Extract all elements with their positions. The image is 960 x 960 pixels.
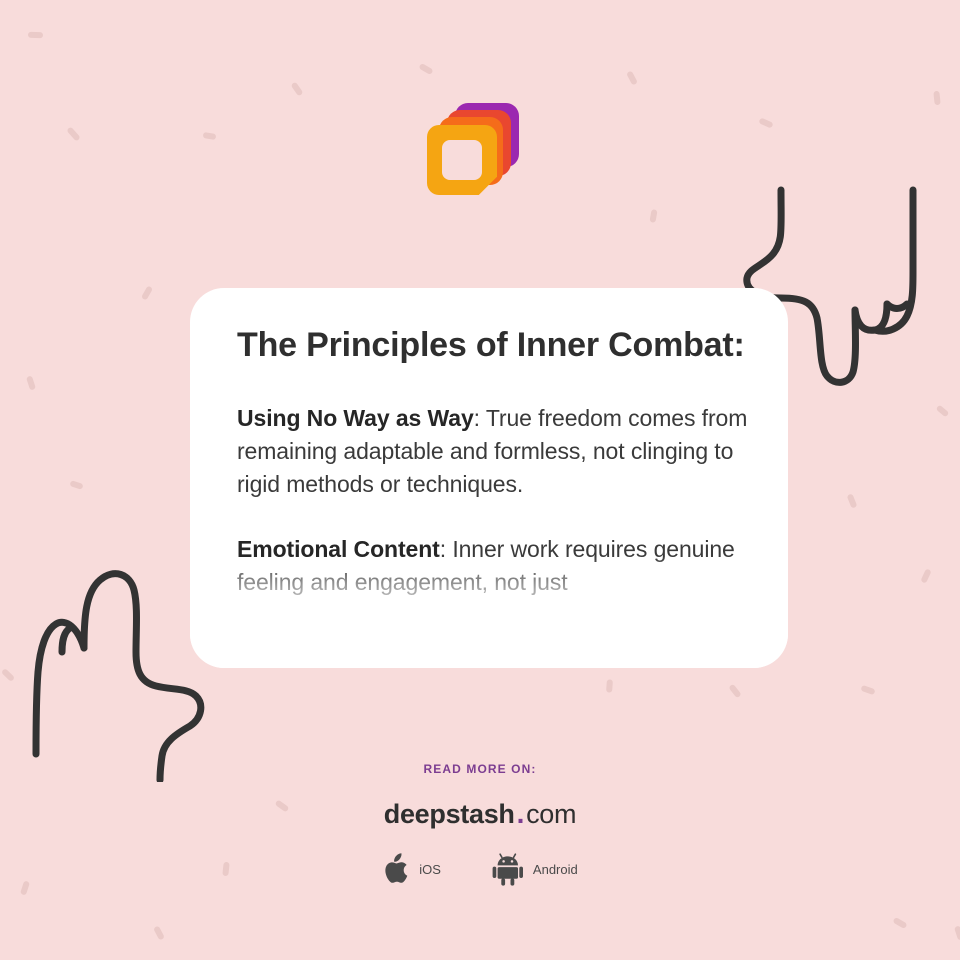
confetti-dash [153, 925, 165, 940]
confetti-dash [26, 375, 36, 390]
platform-label-ios: iOS [419, 862, 441, 877]
read-more-label: READ MORE ON: [0, 762, 960, 776]
confetti-dash [141, 285, 153, 300]
confetti-dash [418, 63, 433, 75]
confetti-dash [606, 679, 613, 692]
confetti-dash [758, 117, 773, 128]
footer: READ MORE ON: deepstash.com iOS [0, 762, 960, 886]
confetti-dash [649, 209, 657, 223]
confetti-dash [936, 405, 950, 418]
confetti-dash [892, 917, 907, 929]
confetti-dash [203, 132, 217, 140]
platform-badge-android[interactable]: Android [492, 853, 578, 886]
logo-layer-amber [427, 125, 497, 195]
confetti-dash [728, 684, 741, 699]
android-icon [492, 853, 524, 886]
confetti-dash [28, 32, 43, 39]
apple-icon [382, 853, 410, 886]
hand-pointing-up-icon [14, 552, 219, 782]
idea-card[interactable]: The Principles of Inner Combat: Using No… [190, 288, 788, 668]
platform-badge-ios[interactable]: iOS [382, 853, 441, 886]
confetti-dash [291, 82, 304, 97]
idea-paragraph-2-lead: Emotional Content [237, 536, 440, 562]
confetti-dash [847, 493, 858, 508]
logo-front-cutout [442, 140, 482, 180]
confetti-dash [920, 568, 931, 583]
deepstash-logo [427, 103, 519, 195]
platform-badges: iOS And [0, 853, 960, 886]
page-title: The Principles of Inner Combat: [237, 320, 748, 370]
confetti-dash [954, 925, 960, 940]
confetti-dash [1, 668, 15, 682]
brand-wordmark[interactable]: deepstash.com [0, 798, 960, 830]
brand-tld: com [526, 799, 576, 829]
poster-canvas: The Principles of Inner Combat: Using No… [0, 0, 960, 960]
confetti-dash [69, 480, 83, 490]
platform-label-android: Android [533, 862, 578, 877]
brand-dot: . [515, 798, 526, 829]
confetti-dash [933, 91, 940, 106]
idea-paragraph-2: Emotional Content: Inner work requires g… [237, 533, 748, 599]
idea-paragraph-1: Using No Way as Way: True freedom comes … [237, 402, 748, 501]
idea-card-content: The Principles of Inner Combat: Using No… [237, 320, 748, 599]
idea-paragraph-1-lead: Using No Way as Way [237, 405, 474, 431]
confetti-dash [626, 70, 638, 85]
confetti-dash [66, 126, 80, 141]
confetti-dash [860, 685, 875, 695]
brand-name: deepstash [384, 799, 515, 829]
